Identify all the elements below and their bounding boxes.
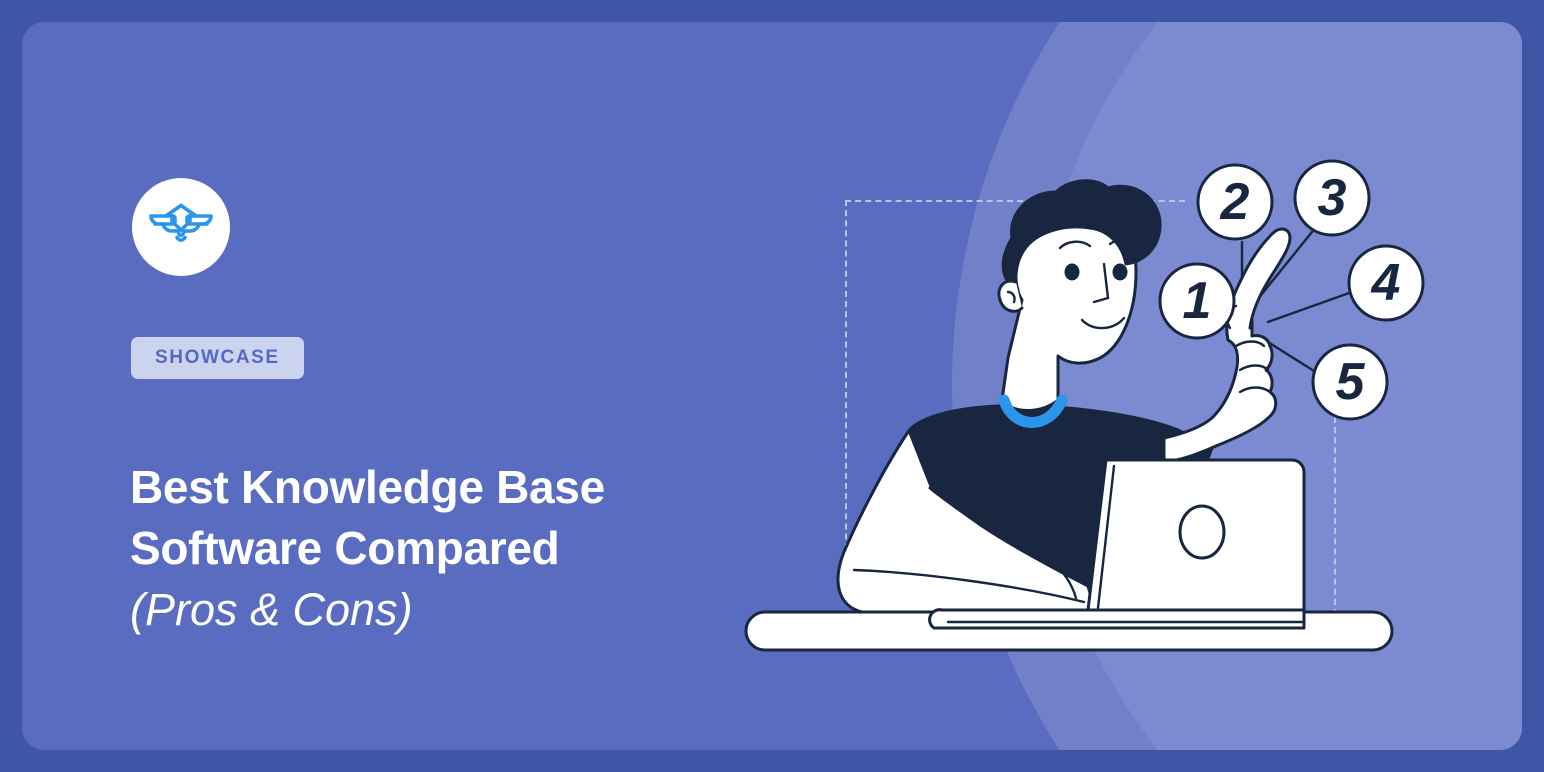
head <box>999 181 1160 411</box>
callout-circles: 1 2 3 4 5 <box>1160 161 1423 419</box>
showcase-badge-label: SHOWCASE <box>155 347 280 368</box>
banner-card: SHOWCASE Best Knowledge Base Software Co… <box>22 22 1522 750</box>
callout-number-2: 2 <box>1220 173 1250 231</box>
headline-line-3: (Pros & Cons) <box>130 579 790 640</box>
callout-number-1: 1 <box>1183 272 1212 330</box>
headline-line-2: Software Compared <box>130 522 559 574</box>
winged-emblem-icon <box>148 201 214 254</box>
callout-number-3: 3 <box>1318 169 1347 227</box>
callout-number-5: 5 <box>1336 353 1366 411</box>
pointing-arm <box>1164 229 1290 462</box>
callout-number-4: 4 <box>1371 254 1401 312</box>
hero-illustration: .ink { fill: none; stroke: #18263f; stro… <box>712 132 1472 672</box>
headline-line-1: Best Knowledge Base <box>130 461 605 513</box>
showcase-badge: SHOWCASE <box>131 337 304 379</box>
brand-logo <box>132 178 230 276</box>
showcase-banner: SHOWCASE Best Knowledge Base Software Co… <box>0 0 1544 772</box>
page-title: Best Knowledge Base Software Compared (P… <box>130 457 790 640</box>
